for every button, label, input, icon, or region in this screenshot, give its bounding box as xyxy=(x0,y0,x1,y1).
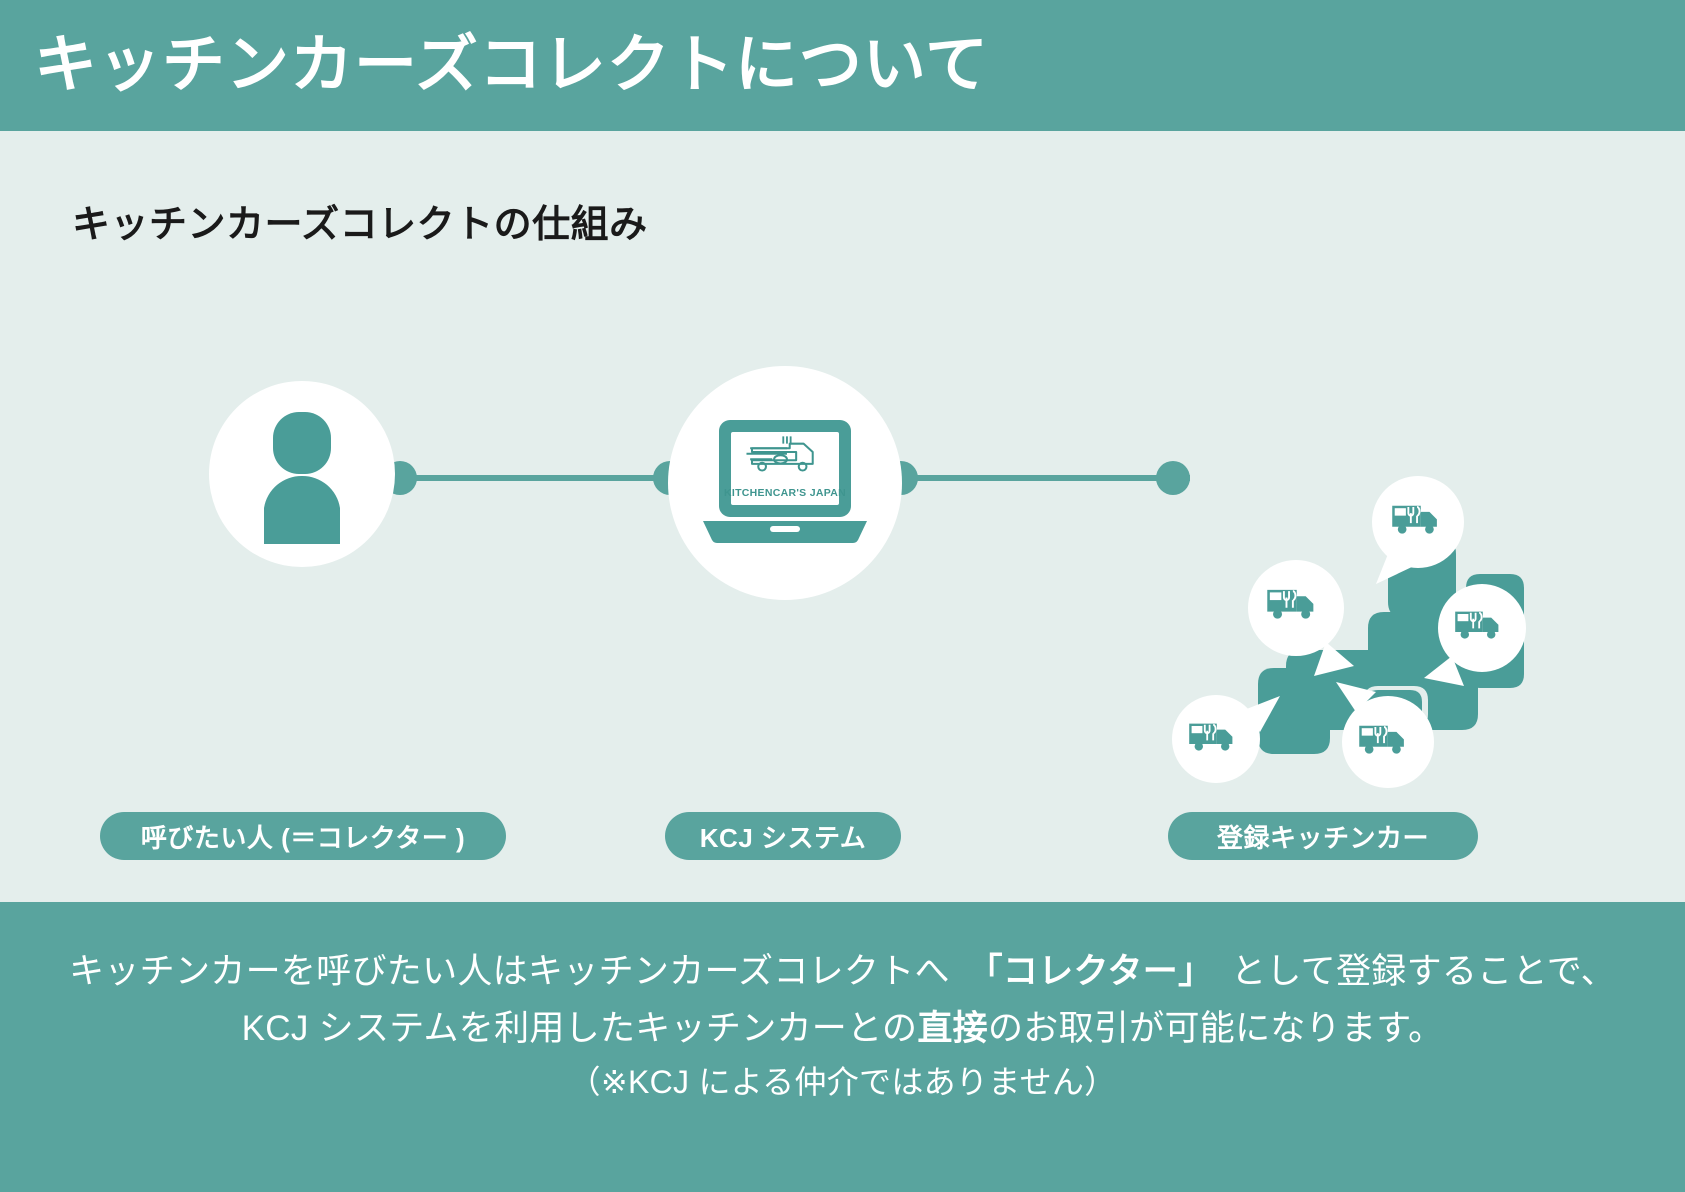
truck-cluster-icon xyxy=(1130,476,1550,816)
laptop-icon: KITCHENCAR'S JAPAN xyxy=(700,418,870,548)
node-registered-trucks xyxy=(1130,476,1550,816)
footer-text: （※KCJ による仲介ではありません） xyxy=(569,1064,1117,1100)
footer-line-2: KCJ システムを利用したキッチンカーとの直接のお取引が可能になります。 xyxy=(242,1001,1444,1058)
page-header: キッチンカーズコレクトについて xyxy=(0,0,1685,131)
footer-text: として登録することで、 xyxy=(1196,952,1616,991)
laptop-screen-logo-text: KITCHENCAR'S JAPAN xyxy=(724,487,846,499)
page-title: キッチンカーズコレクトについて xyxy=(34,34,989,97)
infographic-page: キッチンカーズコレクトについて キッチンカーズコレクトの仕組み xyxy=(0,0,1685,1192)
diagram-panel: キッチンカーズコレクトの仕組み xyxy=(0,131,1685,902)
footer-emphasis: 直接 xyxy=(917,1009,988,1048)
label-collector: 呼びたい人 (＝コレクター ) xyxy=(100,812,506,860)
section-title: キッチンカーズコレクトの仕組み xyxy=(72,193,648,248)
footer-text: KCJ システムを利用したキッチンカーとの xyxy=(242,1009,918,1048)
footer-text: のお取引が可能になります。 xyxy=(988,1009,1443,1048)
node-collector xyxy=(209,381,395,567)
footer-line-1: キッチンカーを呼びたい人はキッチンカーズコレクトへ 「コレクター」 として登録す… xyxy=(69,944,1616,1001)
node-kcj-system: KITCHENCAR'S JAPAN xyxy=(668,366,902,600)
footer-emphasis: 「コレクター」 xyxy=(985,952,1196,991)
connector-line-left xyxy=(400,475,670,481)
flow-diagram: KITCHENCAR'S JAPAN xyxy=(0,301,1685,771)
footer-line-3: （※KCJ による仲介ではありません） xyxy=(569,1057,1117,1109)
footer-text: キッチンカーを呼びたい人はキッチンカーズコレクトへ xyxy=(69,952,985,991)
footer-description: キッチンカーを呼びたい人はキッチンカーズコレクトへ 「コレクター」 として登録す… xyxy=(0,902,1685,1192)
person-icon xyxy=(242,404,362,544)
label-registered-trucks: 登録キッチンカー xyxy=(1168,812,1478,860)
label-kcj-system: KCJ システム xyxy=(665,812,901,860)
